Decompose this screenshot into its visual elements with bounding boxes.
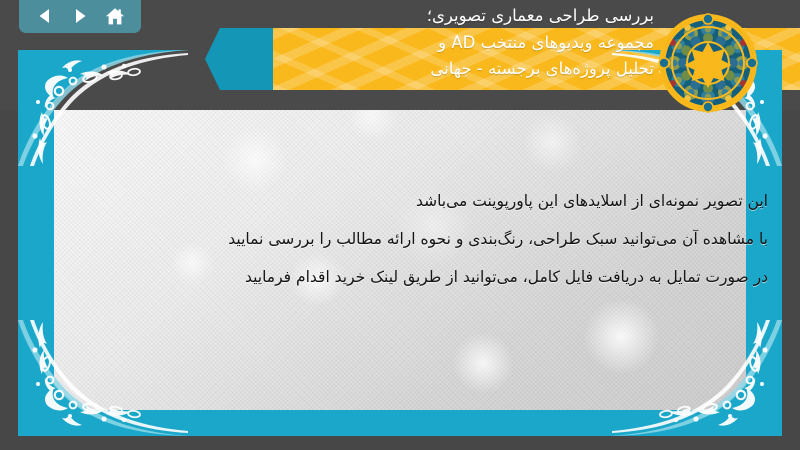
slide-viewer: این تصویر نمونه‌ای از اسلایدهای این پاور… <box>0 0 800 450</box>
slide-body-text: این تصویر نمونه‌ای از اسلایدهای این پاور… <box>78 182 768 296</box>
body-line-1: این تصویر نمونه‌ای از اسلایدهای این پاور… <box>78 182 768 220</box>
back-button[interactable] <box>32 4 58 28</box>
forward-button[interactable] <box>67 4 93 28</box>
triangle-left-icon <box>36 7 54 25</box>
home-button[interactable] <box>102 4 128 28</box>
body-line-3: در صورت تمایل به دریافت فایل کامل، می‌تو… <box>78 258 768 296</box>
body-line-2: با مشاهده آن می‌توانید سبک طراحی، رنگ‌بن… <box>78 220 768 258</box>
title-line-2: مجموعه ویدیوهای منتخب AD و <box>94 30 654 57</box>
navigation-panel[interactable] <box>19 0 141 33</box>
title-line-3: تحلیل پروژه‌های برجسته - جهانی <box>94 56 654 83</box>
persian-mandala-medallion <box>657 12 759 114</box>
title-line-1: بررسی طراحی معماری تصویری؛ <box>94 3 654 30</box>
page-title: بررسی طراحی معماری تصویری؛ مجموعه ویدیوه… <box>94 3 654 83</box>
home-icon <box>105 7 125 26</box>
triangle-right-icon <box>71 7 89 25</box>
